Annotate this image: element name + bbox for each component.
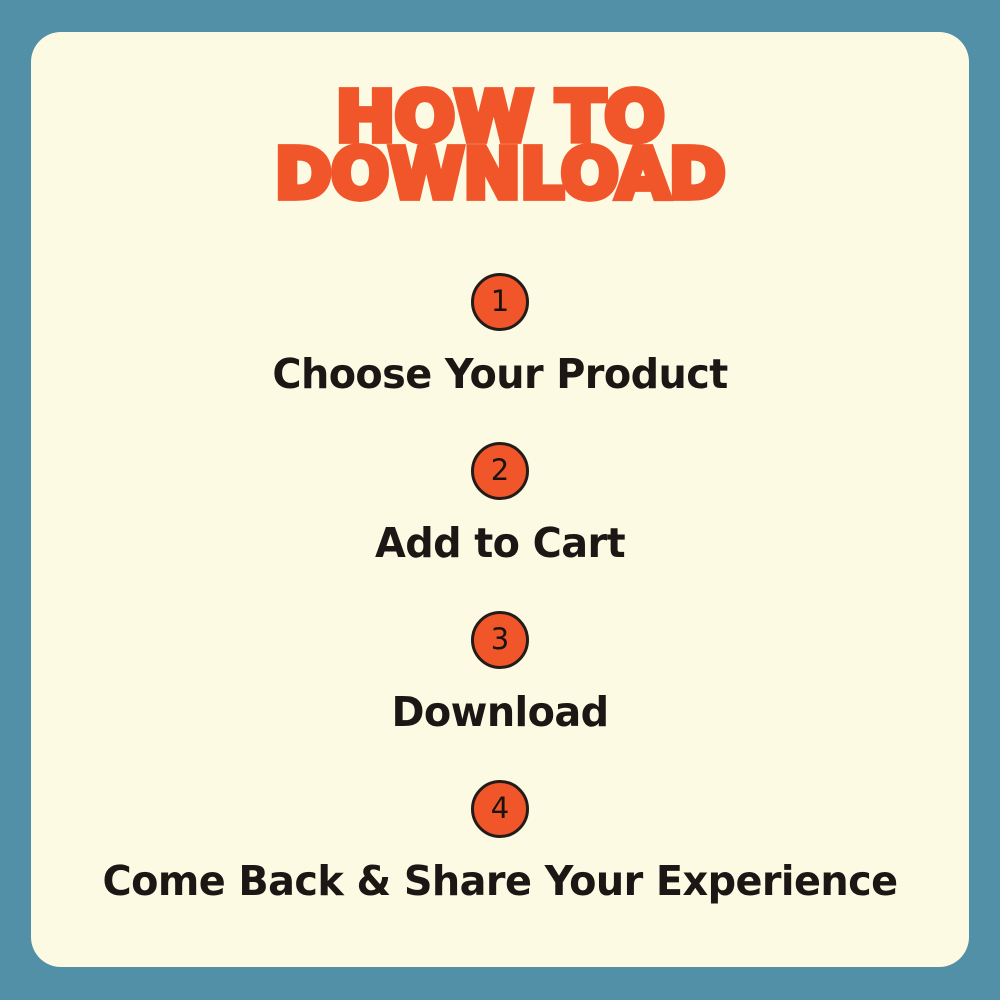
step-number-2: 2	[491, 456, 509, 485]
step-label-3: Download	[45, 691, 955, 734]
step-number-1: 1	[491, 287, 509, 316]
step-badge-4: 4	[471, 780, 529, 838]
step-label-1: Choose Your Product	[45, 353, 955, 396]
poster-canvas: HOW TO DOWNLOAD 1 Choose Your Product 2 …	[0, 0, 1000, 1000]
steps-list: 1 Choose Your Product 2 Add to Cart 3 Do…	[31, 273, 969, 949]
step-number-3: 3	[491, 625, 509, 654]
step-item-3: 3 Download	[31, 611, 969, 780]
step-label-4: Come Back & Share Your Experience	[45, 860, 955, 903]
page-title: HOW TO DOWNLOAD	[31, 90, 969, 202]
step-label-2: Add to Cart	[45, 522, 955, 565]
step-item-1: 1 Choose Your Product	[31, 273, 969, 442]
step-item-2: 2 Add to Cart	[31, 442, 969, 611]
title-line-download: DOWNLOAD	[22, 146, 979, 202]
step-badge-3: 3	[471, 611, 529, 669]
step-item-4: 4 Come Back & Share Your Experience	[31, 780, 969, 949]
step-badge-1: 1	[471, 273, 529, 331]
step-badge-2: 2	[471, 442, 529, 500]
step-number-4: 4	[491, 794, 509, 823]
content-card: HOW TO DOWNLOAD 1 Choose Your Product 2 …	[31, 32, 969, 967]
